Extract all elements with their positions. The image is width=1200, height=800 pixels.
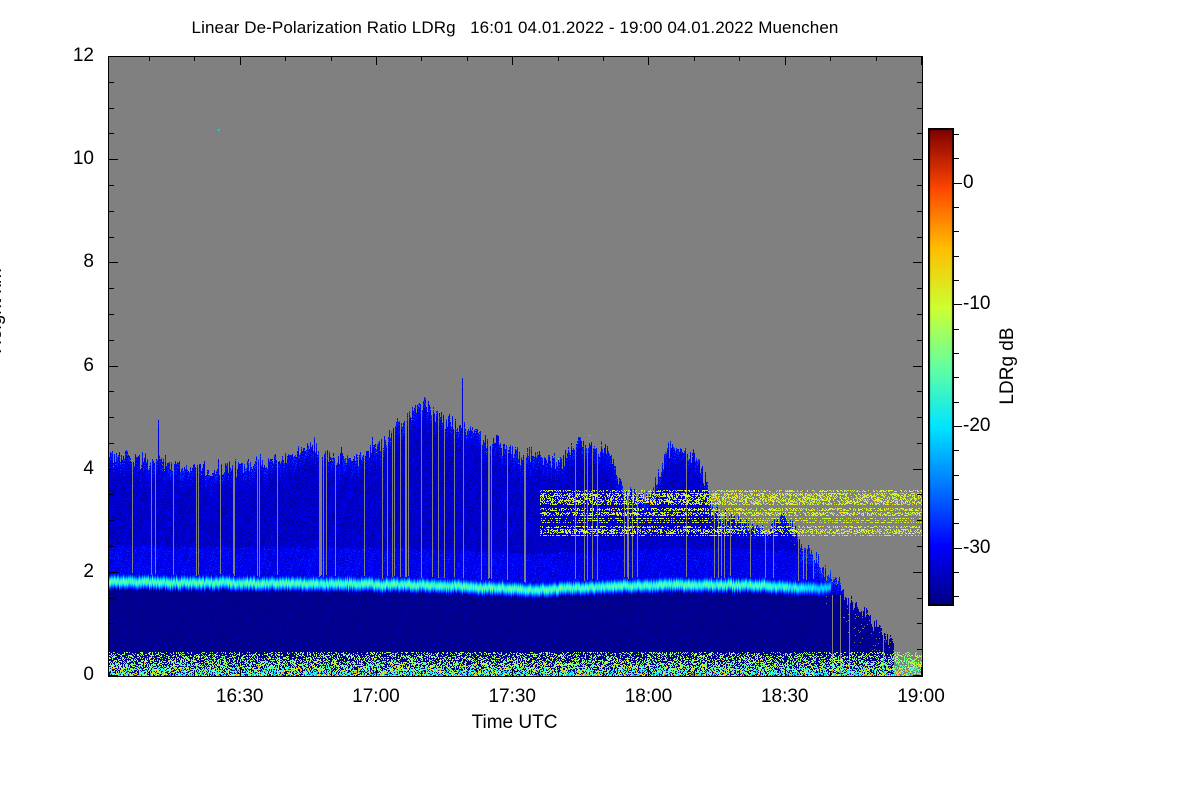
y-axis-title: Height km xyxy=(0,221,7,401)
y-axis-tick-label: 8 xyxy=(22,252,94,271)
x-axis-tick-label: 19:00 xyxy=(861,687,981,706)
x-axis-major-tick-top xyxy=(785,56,786,65)
x-axis-minor-tick xyxy=(285,671,286,676)
y-axis-minor-tick-right xyxy=(917,417,922,418)
y-axis-minor-tick xyxy=(109,494,114,495)
x-axis-major-tick-top xyxy=(648,56,649,65)
colorbar[interactable] xyxy=(928,128,954,606)
y-axis-major-tick-right xyxy=(913,366,922,367)
x-axis-minor-tick-top xyxy=(194,56,195,61)
colorbar-minor-tick xyxy=(954,377,959,378)
y-axis-minor-tick xyxy=(109,237,114,238)
x-axis-minor-tick xyxy=(421,671,422,676)
x-axis-minor-tick-top xyxy=(830,56,831,61)
x-axis-minor-tick xyxy=(876,671,877,676)
y-axis-minor-tick-right xyxy=(917,211,922,212)
x-axis-major-tick-top xyxy=(512,56,513,65)
colorbar-minor-tick xyxy=(954,207,959,208)
colorbar-major-tick xyxy=(954,304,962,305)
colorbar-minor-tick xyxy=(954,231,959,232)
x-axis-minor-tick xyxy=(694,671,695,676)
x-axis-minor-tick xyxy=(558,671,559,676)
y-axis-minor-tick-right xyxy=(917,108,922,109)
x-axis-minor-tick xyxy=(603,671,604,676)
colorbar-major-tick xyxy=(954,426,962,427)
colorbar-minor-tick xyxy=(954,450,959,451)
colorbar-tick-label: 0 xyxy=(963,173,974,192)
colorbar-minor-tick xyxy=(954,134,959,135)
y-axis-minor-tick xyxy=(109,391,114,392)
x-axis-major-tick-top xyxy=(921,56,922,65)
radar-heatmap-canvas[interactable] xyxy=(109,57,922,676)
y-axis-minor-tick-right xyxy=(917,649,922,650)
y-axis-tick-label: 6 xyxy=(22,356,94,375)
x-axis-major-tick xyxy=(376,667,377,676)
y-axis-minor-tick-right xyxy=(917,546,922,547)
colorbar-tick-label: -10 xyxy=(963,294,990,313)
colorbar-minor-tick xyxy=(954,523,959,524)
x-axis-minor-tick-top xyxy=(876,56,877,61)
y-axis-minor-tick xyxy=(109,185,114,186)
colorbar-minor-tick xyxy=(954,475,959,476)
y-axis-tick-label: 4 xyxy=(22,459,94,478)
y-axis-tick-label: 2 xyxy=(22,562,94,581)
y-axis-tick-label: 10 xyxy=(22,149,94,168)
y-axis-minor-tick-right xyxy=(917,237,922,238)
y-axis-minor-tick-right xyxy=(917,288,922,289)
x-axis-major-tick-top xyxy=(376,56,377,65)
y-axis-major-tick xyxy=(109,572,118,573)
y-axis-minor-tick xyxy=(109,340,114,341)
x-axis-minor-tick-top xyxy=(694,56,695,61)
y-axis-minor-tick xyxy=(109,288,114,289)
colorbar-minor-tick xyxy=(954,402,959,403)
y-axis-major-tick-right xyxy=(913,572,922,573)
colorbar-tick-label: -30 xyxy=(963,538,990,557)
x-axis-minor-tick xyxy=(739,671,740,676)
y-axis-minor-tick xyxy=(109,443,114,444)
x-axis-minor-tick-top xyxy=(739,56,740,61)
y-axis-minor-tick-right xyxy=(917,443,922,444)
y-axis-minor-tick xyxy=(109,520,114,521)
y-axis-minor-tick-right xyxy=(917,185,922,186)
x-axis-minor-tick-top xyxy=(603,56,604,61)
colorbar-gradient xyxy=(928,128,954,606)
radar-figure: Linear De-Polarization Ratio LDRg 16:01 … xyxy=(0,0,1200,800)
colorbar-minor-tick xyxy=(954,280,959,281)
colorbar-minor-tick xyxy=(954,596,959,597)
x-axis-minor-tick-top xyxy=(467,56,468,61)
y-axis-major-tick-right xyxy=(913,262,922,263)
x-axis-minor-tick-top xyxy=(285,56,286,61)
y-axis-minor-tick-right xyxy=(917,133,922,134)
colorbar-title: LDRg dB xyxy=(997,266,1019,466)
x-axis-minor-tick-top xyxy=(421,56,422,61)
colorbar-minor-tick xyxy=(954,329,959,330)
x-axis-tick-label: 18:00 xyxy=(588,687,708,706)
plot-area[interactable] xyxy=(108,56,923,677)
y-axis-minor-tick-right xyxy=(917,340,922,341)
x-axis-minor-tick-top xyxy=(331,56,332,61)
colorbar-major-tick xyxy=(954,548,962,549)
x-axis-minor-tick-top xyxy=(558,56,559,61)
y-axis-minor-tick xyxy=(109,417,114,418)
y-axis-minor-tick-right xyxy=(917,314,922,315)
x-axis-minor-tick xyxy=(467,671,468,676)
y-axis-minor-tick-right xyxy=(917,391,922,392)
y-axis-major-tick-right xyxy=(913,159,922,160)
colorbar-major-tick xyxy=(954,183,962,184)
x-axis-title: Time UTC xyxy=(108,712,921,734)
x-axis-major-tick xyxy=(785,667,786,676)
y-axis-minor-tick xyxy=(109,546,114,547)
y-axis-minor-tick xyxy=(109,133,114,134)
y-axis-tick-label: 12 xyxy=(22,46,94,65)
y-axis-major-tick-right xyxy=(913,469,922,470)
y-axis-major-tick xyxy=(109,262,118,263)
x-axis-minor-tick-top xyxy=(149,56,150,61)
y-axis-minor-tick-right xyxy=(917,623,922,624)
y-axis-tick-label: 0 xyxy=(22,665,94,684)
y-axis-major-tick xyxy=(109,159,118,160)
y-axis-minor-tick xyxy=(109,649,114,650)
y-axis-minor-tick xyxy=(109,211,114,212)
y-axis-major-tick xyxy=(109,675,118,676)
y-axis-major-tick xyxy=(109,469,118,470)
y-axis-minor-tick-right xyxy=(917,520,922,521)
x-axis-tick-label: 17:00 xyxy=(316,687,436,706)
colorbar-tick-label: -20 xyxy=(963,416,990,435)
y-axis-minor-tick-right xyxy=(917,598,922,599)
y-axis-minor-tick xyxy=(109,314,114,315)
x-axis-major-tick-top xyxy=(240,56,241,65)
x-axis-major-tick xyxy=(921,667,922,676)
y-axis-minor-tick-right xyxy=(917,82,922,83)
y-axis-minor-tick xyxy=(109,598,114,599)
x-axis-minor-tick xyxy=(194,671,195,676)
y-axis-major-tick xyxy=(109,366,118,367)
x-axis-major-tick xyxy=(240,667,241,676)
x-axis-tick-label: 17:30 xyxy=(452,687,572,706)
y-axis-major-tick xyxy=(109,56,118,57)
x-axis-minor-tick xyxy=(331,671,332,676)
colorbar-minor-tick xyxy=(954,256,959,257)
x-axis-minor-tick xyxy=(149,671,150,676)
x-axis-tick-label: 16:30 xyxy=(180,687,300,706)
colorbar-minor-tick xyxy=(954,353,959,354)
page-title: Linear De-Polarization Ratio LDRg 16:01 … xyxy=(0,18,1030,38)
colorbar-minor-tick xyxy=(954,572,959,573)
colorbar-minor-tick xyxy=(954,158,959,159)
y-axis-minor-tick-right xyxy=(917,494,922,495)
x-axis-tick-label: 18:30 xyxy=(725,687,845,706)
colorbar-minor-tick xyxy=(954,499,959,500)
x-axis-major-tick xyxy=(512,667,513,676)
y-axis-minor-tick xyxy=(109,108,114,109)
x-axis-major-tick xyxy=(648,667,649,676)
y-axis-minor-tick xyxy=(109,82,114,83)
x-axis-minor-tick xyxy=(830,671,831,676)
y-axis-minor-tick xyxy=(109,623,114,624)
